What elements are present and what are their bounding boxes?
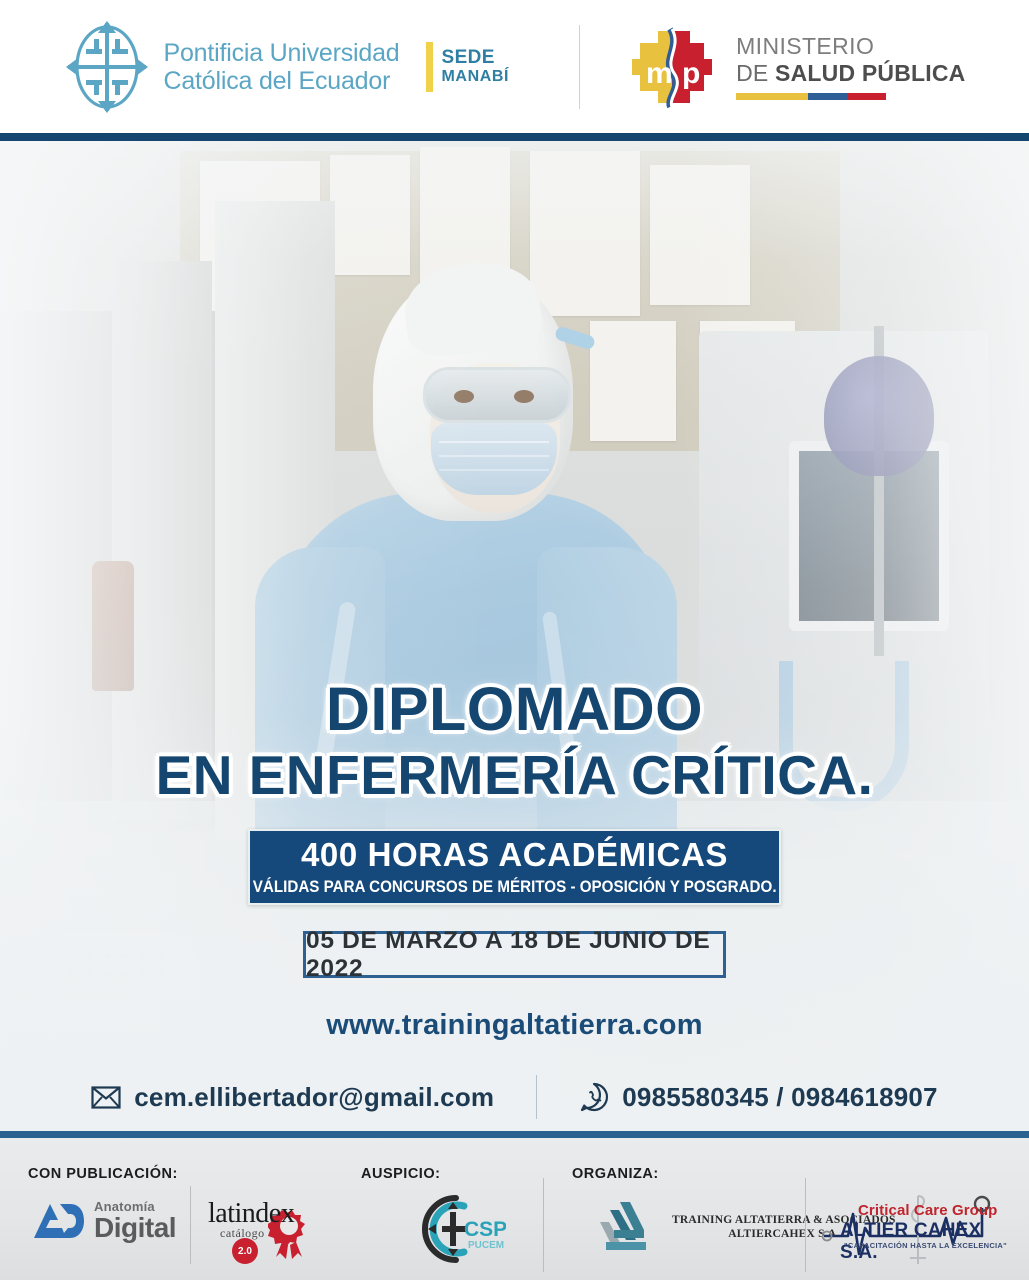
- msp-logo: m p MINISTERIO DE SALUD PÚBLICA: [626, 21, 965, 113]
- puce-logo: Pontificia Universidad Católica del Ecua…: [64, 19, 510, 115]
- svg-text:p: p: [682, 57, 700, 90]
- msp-line2-light: DE: [736, 60, 775, 86]
- altatierra-a-mark-icon: [592, 1200, 662, 1254]
- svg-text:m: m: [646, 57, 673, 90]
- title-line-2: EN ENFERMERÍA CRÍTICA.: [0, 748, 1029, 803]
- phone-text: 0985580345 / 0984618907: [622, 1082, 937, 1113]
- sede-line2: MANABÍ: [442, 68, 510, 86]
- footer-divider-1: [190, 1186, 191, 1264]
- title-line-1: DIPLOMADO: [0, 679, 1029, 740]
- ccsp-compass-icon: CSP PUCEM: [406, 1192, 506, 1266]
- poster-root: Pontificia Universidad Católica del Ecua…: [0, 0, 1029, 1280]
- msp-line2-bold: SALUD PÚBLICA: [775, 60, 965, 86]
- email-contact[interactable]: cem.ellibertador@gmail.com: [91, 1082, 494, 1113]
- anatomia-digital-ad-mark-icon: [32, 1200, 86, 1242]
- date-box: 05 DE MARZO A 18 DE JUNIO DE 2022: [303, 931, 726, 978]
- contact-row: cem.ellibertador@gmail.com 0985580345 / …: [0, 1069, 1029, 1125]
- page-title: DIPLOMADO EN ENFERMERÍA CRÍTICA.: [0, 679, 1029, 803]
- critical-care-line3: "CAPACITACIÓN HASTA LA EXCELENCIA": [844, 1241, 1007, 1250]
- website-link[interactable]: www.trainingaltatierra.com: [0, 1009, 1029, 1042]
- footer-divider-2: [543, 1178, 544, 1272]
- puce-name-line1: Pontificia Universidad: [164, 39, 400, 67]
- label-auspicio: AUSPICIO:: [361, 1166, 440, 1182]
- puce-name: Pontificia Universidad Católica del Ecua…: [164, 39, 400, 95]
- anatomia-digital-logo: Anatomía Digital: [32, 1200, 176, 1242]
- hours-banner: 400 HORAS ACADÉMICAS VÁLIDAS PARA CONCUR…: [248, 829, 781, 905]
- header-logos-bar: Pontificia Universidad Católica del Ecua…: [0, 0, 1029, 133]
- msp-text: MINISTERIO DE SALUD PÚBLICA: [736, 33, 965, 100]
- footer-sponsors-bar: CON PUBLICACIÓN: AUSPICIO: ORGANIZA: Ana…: [0, 1138, 1029, 1280]
- latindex-version-badge: 2.0: [232, 1238, 258, 1264]
- label-con-publicacion: CON PUBLICACIÓN:: [28, 1166, 178, 1182]
- hours-banner-sub: VÁLIDAS PARA CONCURSOS DE MÉRITOS - OPOS…: [253, 879, 777, 896]
- footer-divider-3: [805, 1178, 806, 1272]
- puce-logo-block: Pontificia Universidad Católica del Ecua…: [64, 19, 534, 115]
- header-bottom-rule: [0, 133, 1029, 141]
- hero-content-overlay: DIPLOMADO EN ENFERMERÍA CRÍTICA. 400 HOR…: [0, 141, 1029, 1131]
- email-text: cem.ellibertador@gmail.com: [134, 1082, 494, 1113]
- puce-cross-compass-icon: [64, 19, 150, 115]
- msp-cross-icon: m p: [626, 21, 718, 113]
- header-divider: [579, 25, 580, 109]
- footer-top-rule: [0, 1131, 1029, 1138]
- envelope-icon: [91, 1086, 121, 1109]
- msp-flag-rule: [736, 93, 886, 100]
- critical-care-group-logo: Critical Care Group ALTIER CAHEX S.A. "C…: [822, 1192, 1008, 1268]
- ccsp-main-text: CSP: [464, 1218, 506, 1241]
- msp-line2: DE SALUD PÚBLICA: [736, 60, 965, 87]
- hours-banner-main: 400 HORAS ACADÉMICAS: [301, 838, 728, 871]
- date-text: 05 DE MARZO A 18 DE JUNIO DE 2022: [306, 927, 723, 983]
- anatomia-digital-text: Anatomía Digital: [94, 1200, 176, 1242]
- latindex-logo: latindex catálogo 2.0: [206, 1196, 314, 1262]
- anatomia-digital-line2: Digital: [94, 1214, 176, 1242]
- phone-contact[interactable]: 0985580345 / 0984618907: [579, 1082, 937, 1113]
- ccsp-sub-text: PUCEM: [468, 1240, 504, 1251]
- latindex-word-text: latindex: [208, 1198, 294, 1229]
- puce-sede-block: SEDE MANABÍ: [426, 42, 510, 92]
- sede-line1: SEDE: [442, 47, 510, 68]
- whatsapp-icon: [579, 1082, 609, 1112]
- msp-line1: MINISTERIO: [736, 33, 965, 60]
- critical-care-line1: Critical Care Group: [858, 1202, 997, 1219]
- puce-name-line2: Católica del Ecuador: [164, 67, 400, 95]
- contact-divider: [536, 1075, 537, 1119]
- sede-accent-bar: [426, 42, 433, 92]
- label-organiza: ORGANIZA:: [572, 1166, 659, 1182]
- sede-text: SEDE MANABÍ: [442, 47, 510, 86]
